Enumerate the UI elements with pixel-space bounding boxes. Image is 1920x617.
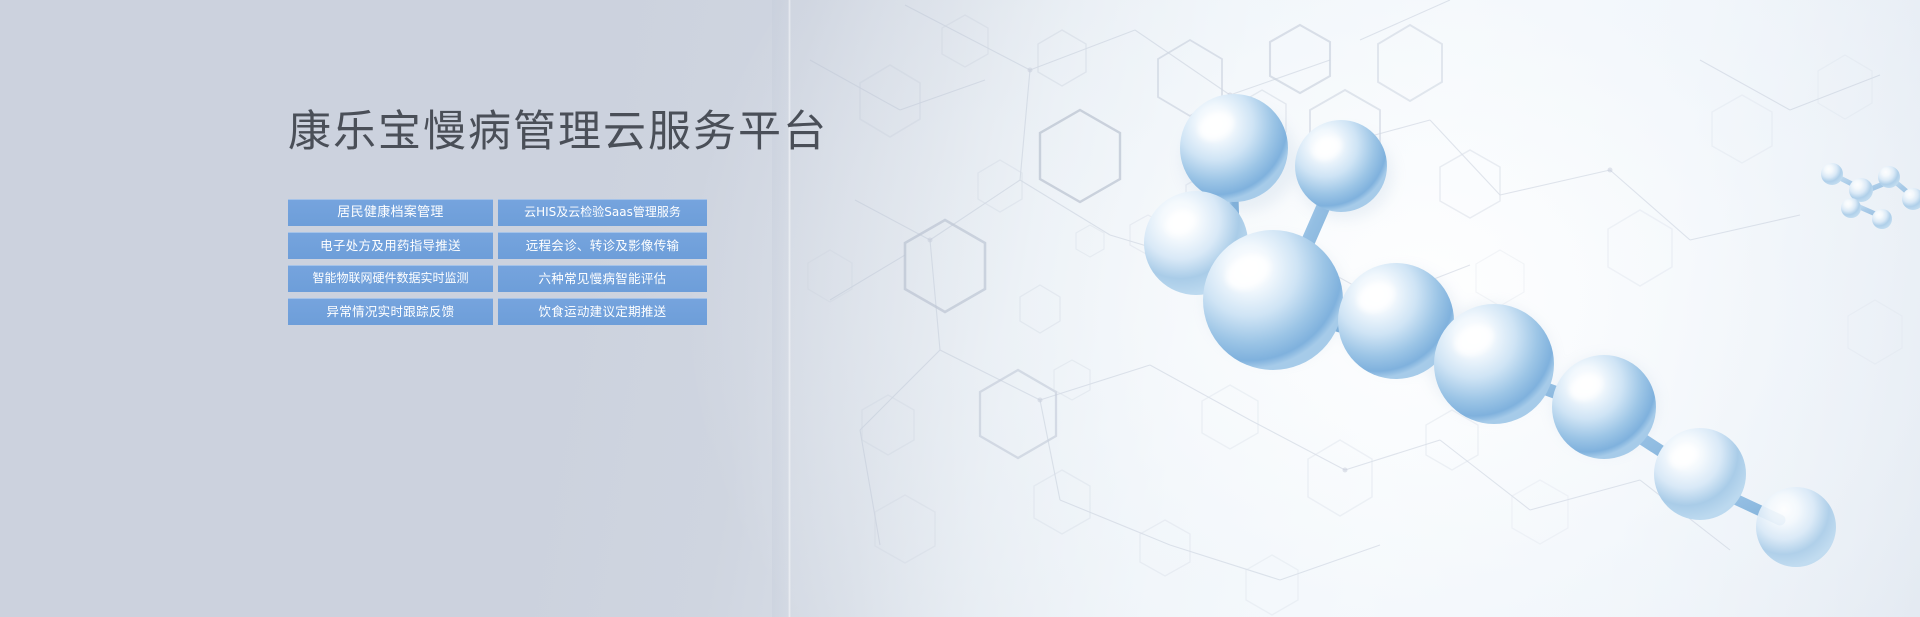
feature-button-six-chronic-disease-assessment[interactable]: 六种常见慢病智能评估: [498, 265, 707, 292]
feature-button-remote-consultation-referral-imaging[interactable]: 远程会诊、转诊及影像传输: [498, 232, 707, 259]
feature-button-cloud-his-lab-saas[interactable]: 云HIS及云检验Saas管理服务: [498, 199, 707, 226]
page-title: 康乐宝慢病管理云服务平台: [288, 108, 718, 157]
banner-content: 康乐宝慢病管理云服务平台 居民健康档案管理 云HIS及云检验Saas管理服务 电…: [288, 108, 718, 325]
background-seam-soft: [772, 0, 792, 617]
feature-button-iot-device-realtime-monitoring[interactable]: 智能物联网硬件数据实时监测: [288, 265, 493, 292]
feature-button-grid: 居民健康档案管理 云HIS及云检验Saas管理服务 电子处方及用药指导推送 远程…: [288, 199, 707, 325]
background-seam: [788, 0, 791, 617]
feature-button-e-prescription-medication-guidance[interactable]: 电子处方及用药指导推送: [288, 232, 493, 259]
feature-button-resident-health-records[interactable]: 居民健康档案管理: [288, 199, 493, 226]
feature-button-diet-exercise-advice-push[interactable]: 饮食运动建议定期推送: [498, 298, 707, 325]
hero-banner: 康乐宝慢病管理云服务平台 居民健康档案管理 云HIS及云检验Saas管理服务 电…: [0, 0, 1920, 617]
feature-button-abnormal-realtime-tracking-feedback[interactable]: 异常情况实时跟踪反馈: [288, 298, 493, 325]
